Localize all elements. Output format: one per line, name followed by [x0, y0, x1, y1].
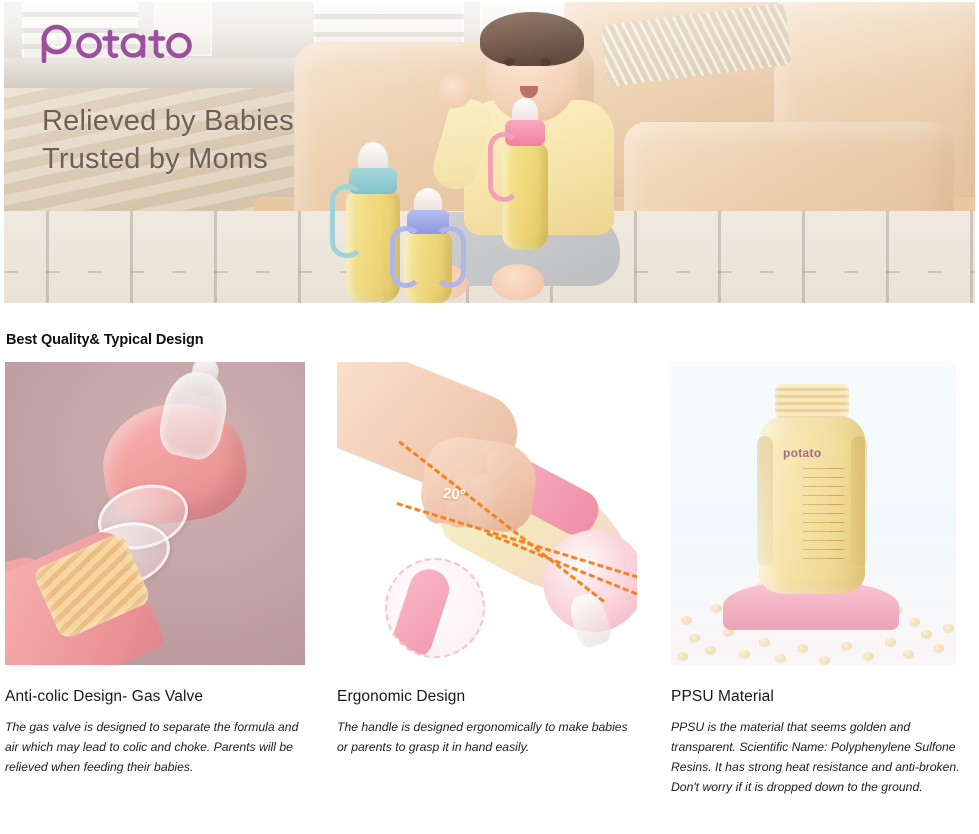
baby-photo-subject	[444, 12, 684, 302]
feature-image-ergonomic-grip: 20°	[337, 362, 637, 665]
hero-headline-line-1: Relieved by Babies	[42, 102, 294, 140]
feature-column-ergonomic: 20° Ergonomic Design The handle is desig…	[337, 362, 637, 757]
potato-wordmark-icon	[34, 23, 194, 63]
feature-title: Anti-colic Design- Gas Valve	[5, 688, 305, 706]
feature-column-ppsu: potato PPSU Material PPSU is the materia…	[671, 362, 976, 797]
angle-label: 20°	[442, 485, 466, 504]
feature-description: PPSU is the material that seems golden a…	[671, 717, 976, 797]
feature-column-anti-colic: Anti-colic Design- Gas Valve The gas val…	[5, 362, 305, 777]
grip-detail-callout	[385, 558, 485, 658]
potato-logo[interactable]	[34, 22, 194, 64]
hero-headline-line-2: Trusted by Moms	[42, 140, 294, 178]
hero-bottle-pink	[502, 142, 548, 250]
feature-description: The handle is designed ergonomically to …	[337, 717, 637, 757]
product-detail-page: Relieved by Babies Trusted by Moms Best …	[0, 0, 979, 834]
section-title: Best Quality& Typical Design	[6, 332, 204, 348]
feature-title: Ergonomic Design	[337, 688, 637, 706]
ppsu-bottle: potato	[757, 384, 867, 592]
hero-banner: Relieved by Babies Trusted by Moms	[4, 2, 975, 303]
feature-title: PPSU Material	[671, 688, 976, 706]
bottle-brand-print: potato	[783, 446, 821, 460]
feature-description: The gas valve is designed to separate th…	[5, 717, 305, 777]
hero-bottle-blue	[404, 230, 452, 303]
hero-headline: Relieved by Babies Trusted by Moms	[42, 102, 294, 178]
feature-image-gas-valve	[5, 362, 305, 665]
feature-image-ppsu-bottle: potato	[671, 362, 956, 665]
